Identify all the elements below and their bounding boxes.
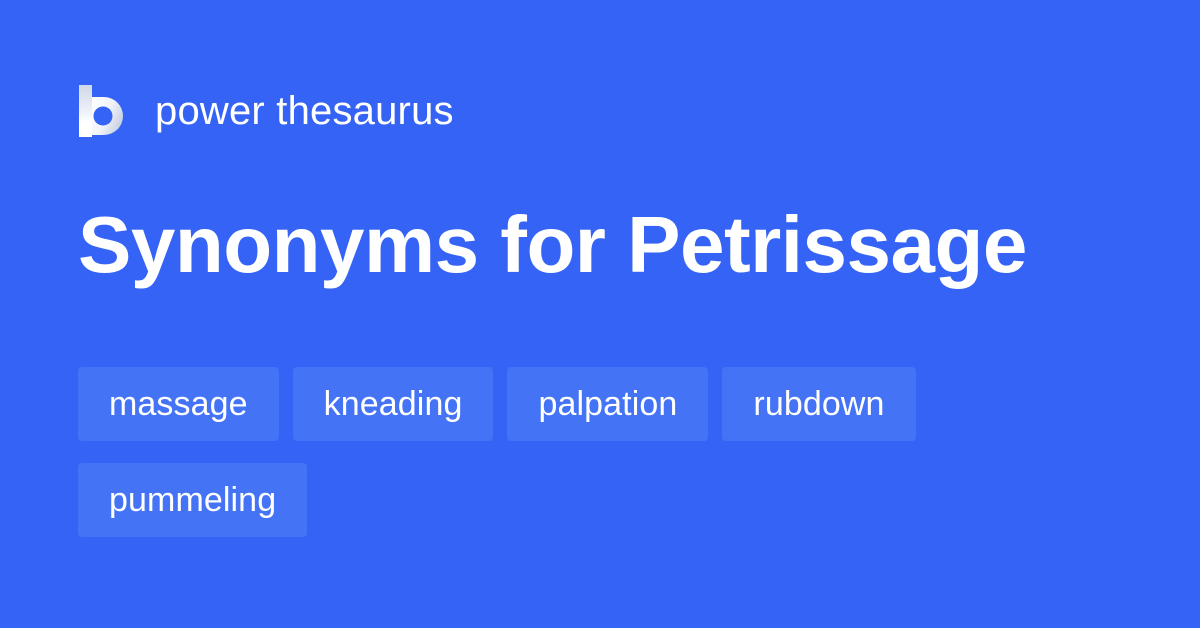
synonyms-share-card: power thesaurus Synonyms for Petrissage … xyxy=(0,0,1200,628)
brand-name: power thesaurus xyxy=(155,91,454,131)
page-title: Synonyms for Petrissage xyxy=(78,198,1027,292)
synonym-chip[interactable]: pummeling xyxy=(78,463,307,537)
synonym-chip[interactable]: kneading xyxy=(293,367,494,441)
synonym-chip[interactable]: massage xyxy=(78,367,279,441)
synonym-chip[interactable]: palpation xyxy=(507,367,708,441)
synonym-chip[interactable]: rubdown xyxy=(722,367,915,441)
power-thesaurus-b-logo-icon xyxy=(78,84,130,138)
brand-logo[interactable]: power thesaurus xyxy=(78,82,454,140)
synonym-chip-list: massage kneading palpation rubdown pumme… xyxy=(78,367,1128,537)
